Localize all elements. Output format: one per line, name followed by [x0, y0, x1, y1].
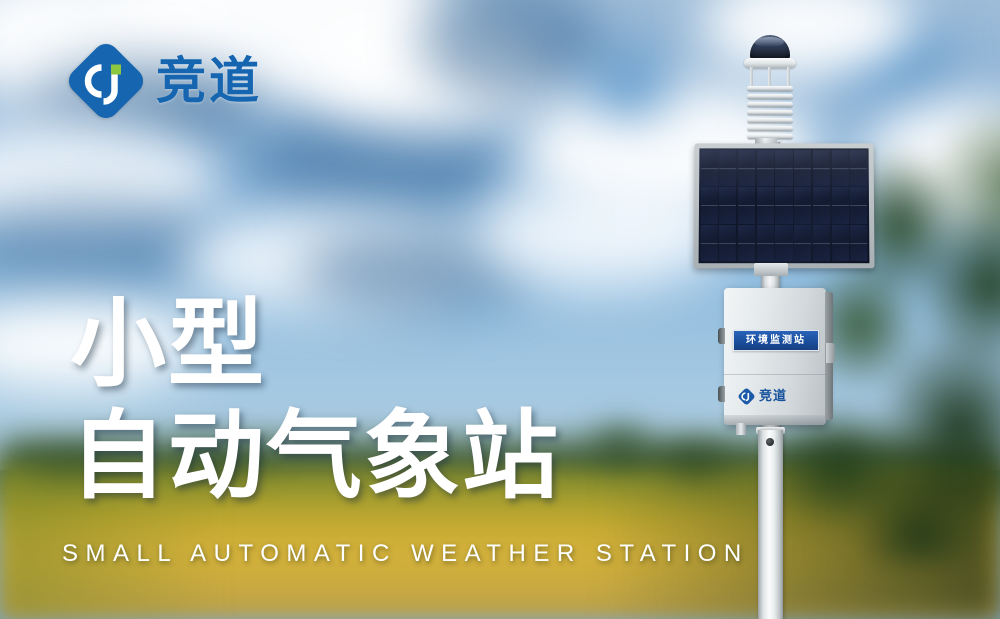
control-box-seam — [724, 374, 826, 375]
cloud-shape — [250, 110, 510, 220]
cloud-shape — [590, 60, 670, 115]
control-box-hinge — [718, 386, 725, 402]
pole-bolt — [766, 438, 774, 446]
solar-panel — [694, 143, 875, 268]
solar-cell-grid — [699, 148, 870, 263]
control-box-banner-label: 环境监测站 — [746, 336, 806, 346]
hero-title-line2: 自动气象站 — [70, 408, 560, 504]
control-box-brand-label: 竞道 — [759, 390, 787, 403]
control-box-hinge — [718, 328, 725, 344]
control-box-latch — [826, 343, 835, 363]
brand-name-label: 竞道 — [156, 56, 262, 106]
jingdao-diamond-logo-icon — [738, 388, 755, 405]
solar-panel-bracket — [754, 263, 788, 276]
hero-subtitle: SMALL AUTOMATIC WEATHER STATION — [62, 540, 749, 568]
control-box-gland — [736, 423, 746, 435]
hero-title-line1: 小型 — [70, 296, 560, 392]
jingdao-diamond-logo-icon — [70, 45, 142, 117]
control-box-banner: 环境监测站 — [733, 330, 819, 351]
brand-logo[interactable]: 竞道 — [70, 45, 262, 117]
mounting-pole-lower — [758, 430, 783, 619]
hero-title: 小型 自动气象站 — [70, 296, 560, 504]
weather-station-product: 环境监测站 竞道 — [690, 30, 890, 619]
radiation-shield — [747, 86, 793, 141]
promo-banner: 环境监测站 竞道 — [0, 0, 1000, 619]
control-box-brand: 竞道 — [738, 388, 787, 405]
control-box: 环境监测站 竞道 — [724, 288, 826, 425]
